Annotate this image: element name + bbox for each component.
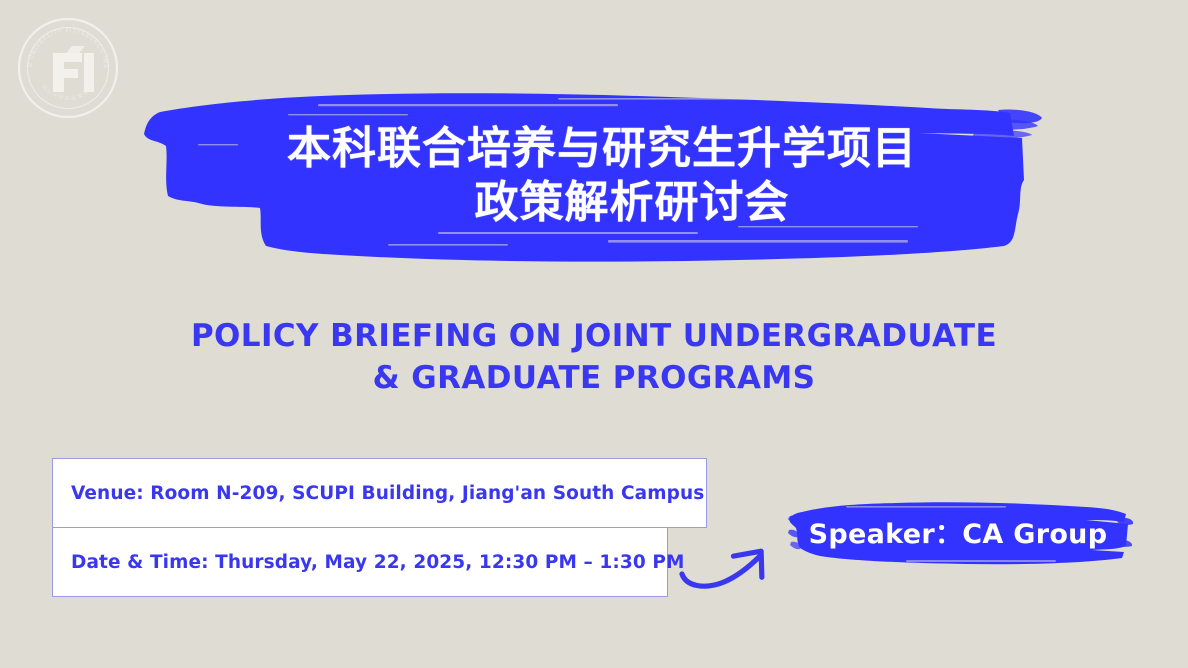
curved-arrow-icon bbox=[676, 538, 782, 600]
university-logo: SICHUAN UNIVERSITY PITTSBURGH INSTITUTE … bbox=[12, 12, 124, 124]
datetime-box: Date & Time: Thursday, May 22, 2025, 12:… bbox=[52, 527, 668, 597]
subtitle-line-2: & GRADUATE PROGRAMS bbox=[0, 358, 1188, 400]
venue-text: Venue: Room N-209, SCUPI Building, Jiang… bbox=[53, 483, 704, 504]
title-line-1: 本科联合培养与研究生升学项目 bbox=[287, 123, 917, 175]
datetime-text: Date & Time: Thursday, May 22, 2025, 12:… bbox=[53, 552, 685, 573]
title-line-2: 政策解析研讨会 bbox=[475, 177, 790, 229]
subtitle-line-1: POLICY BRIEFING ON JOINT UNDERGRADUATE bbox=[0, 316, 1188, 358]
venue-box: Venue: Room N-209, SCUPI Building, Jiang… bbox=[52, 458, 707, 528]
poster-canvas: SICHUAN UNIVERSITY PITTSBURGH INSTITUTE … bbox=[0, 0, 1188, 668]
english-subtitle: POLICY BRIEFING ON JOINT UNDERGRADUATE &… bbox=[0, 316, 1188, 400]
title-banner: 本科联合培养与研究生升学项目 政策解析研讨会 bbox=[138, 84, 1044, 268]
speaker-label: Speaker：CA Group bbox=[784, 493, 1132, 569]
speaker-badge: Speaker：CA Group bbox=[786, 496, 1134, 572]
